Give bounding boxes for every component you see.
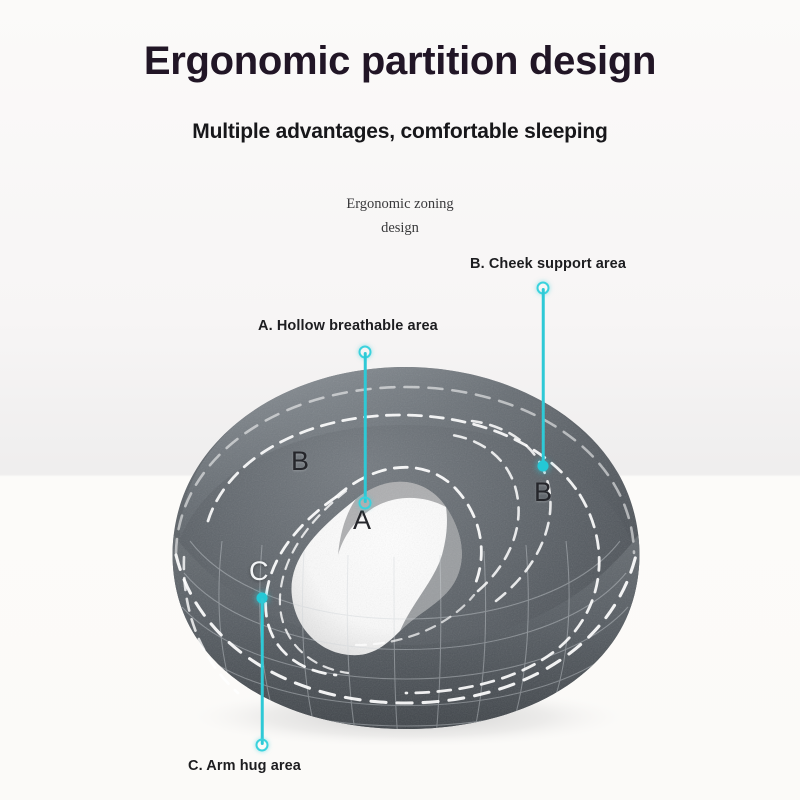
zoning-note-line-1: Ergonomic zoning [300, 192, 500, 216]
zone-letter-b-right: B [534, 477, 552, 508]
callout-connector-b [536, 281, 550, 476]
callout-a-line [364, 352, 367, 503]
callout-c-bottom-marker [256, 739, 269, 752]
callout-c-line [261, 598, 264, 745]
pillow-body [150, 345, 660, 745]
infographic-canvas: Ergonomic partition design Multiple adva… [0, 0, 800, 800]
callout-connector-c [255, 591, 269, 756]
callout-b-bottom-marker [538, 461, 549, 472]
page-title: Ergonomic partition design [0, 38, 800, 84]
zone-letter-b-left: B [291, 446, 309, 477]
callout-label-a: A. Hollow breathable area [258, 318, 438, 334]
callout-connector-a [358, 345, 372, 510]
page-subtitle: Multiple advantages, comfortable sleepin… [0, 119, 800, 145]
callout-b-line [542, 288, 545, 466]
callout-label-c: C. Arm hug area [188, 758, 301, 774]
zoning-note-line-2: design [300, 216, 500, 240]
product-illustration [150, 345, 660, 745]
callout-a-bottom-marker [359, 497, 372, 510]
callout-label-b: B. Cheek support area [470, 256, 626, 272]
zone-letter-c: C [249, 556, 269, 587]
zoning-note: Ergonomic zoning design [300, 192, 500, 240]
